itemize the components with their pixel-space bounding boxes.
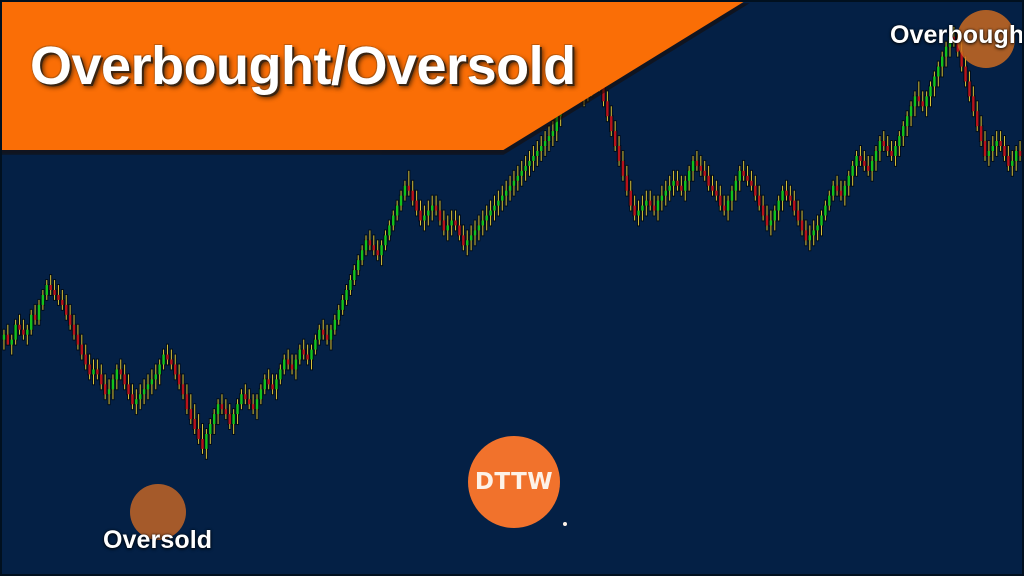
promo-graphic: Overbought Oversold Overbought/Oversold … — [0, 0, 1024, 576]
trademark-dot-icon — [563, 522, 567, 526]
dttw-wordmark: DTTW — [475, 469, 553, 495]
oversold-label: Oversold — [103, 526, 212, 555]
overbought-label: Overbought — [890, 21, 1024, 50]
page-title: Overbought/Oversold — [30, 38, 576, 95]
dttw-logo: DTTW — [468, 436, 560, 528]
